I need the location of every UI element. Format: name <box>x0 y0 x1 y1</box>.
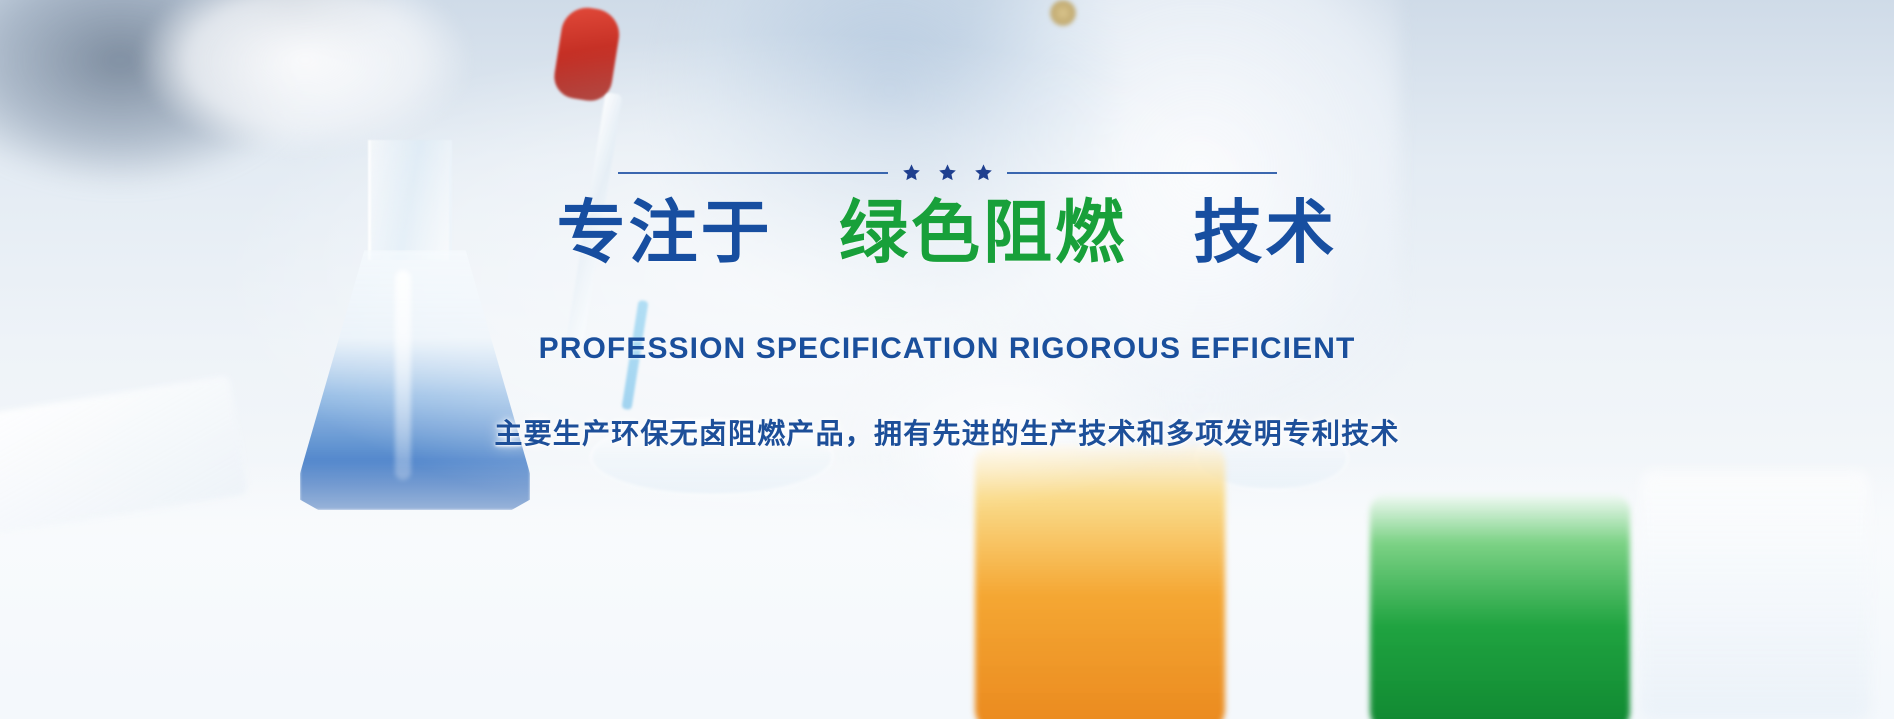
subtitle-english: PROFESSION SPECIFICATION RIGOROUS EFFICI… <box>539 332 1356 366</box>
star-icon <box>974 163 993 182</box>
star-icon <box>902 163 921 182</box>
hero-banner: 专注于 绿色阻燃 技术 PROFESSION SPECIFICATION RIG… <box>0 0 1894 719</box>
divider-line-right <box>1007 172 1277 174</box>
banner-content: 专注于 绿色阻燃 技术 PROFESSION SPECIFICATION RIG… <box>0 0 1894 719</box>
title-part-2: 绿色阻燃 <box>839 194 1127 271</box>
star-group <box>902 163 993 182</box>
page-title: 专注于 绿色阻燃 技术 <box>557 196 1338 269</box>
title-part-3: 技术 <box>1193 194 1337 271</box>
tagline-chinese: 主要生产环保无卤阻燃产品，拥有先进的生产技术和多项发明专利技术 <box>494 412 1399 452</box>
title-part-1: 专注于 <box>557 194 773 271</box>
divider-line-left <box>618 172 888 174</box>
star-icon <box>938 163 957 182</box>
title-divider <box>618 163 1277 182</box>
